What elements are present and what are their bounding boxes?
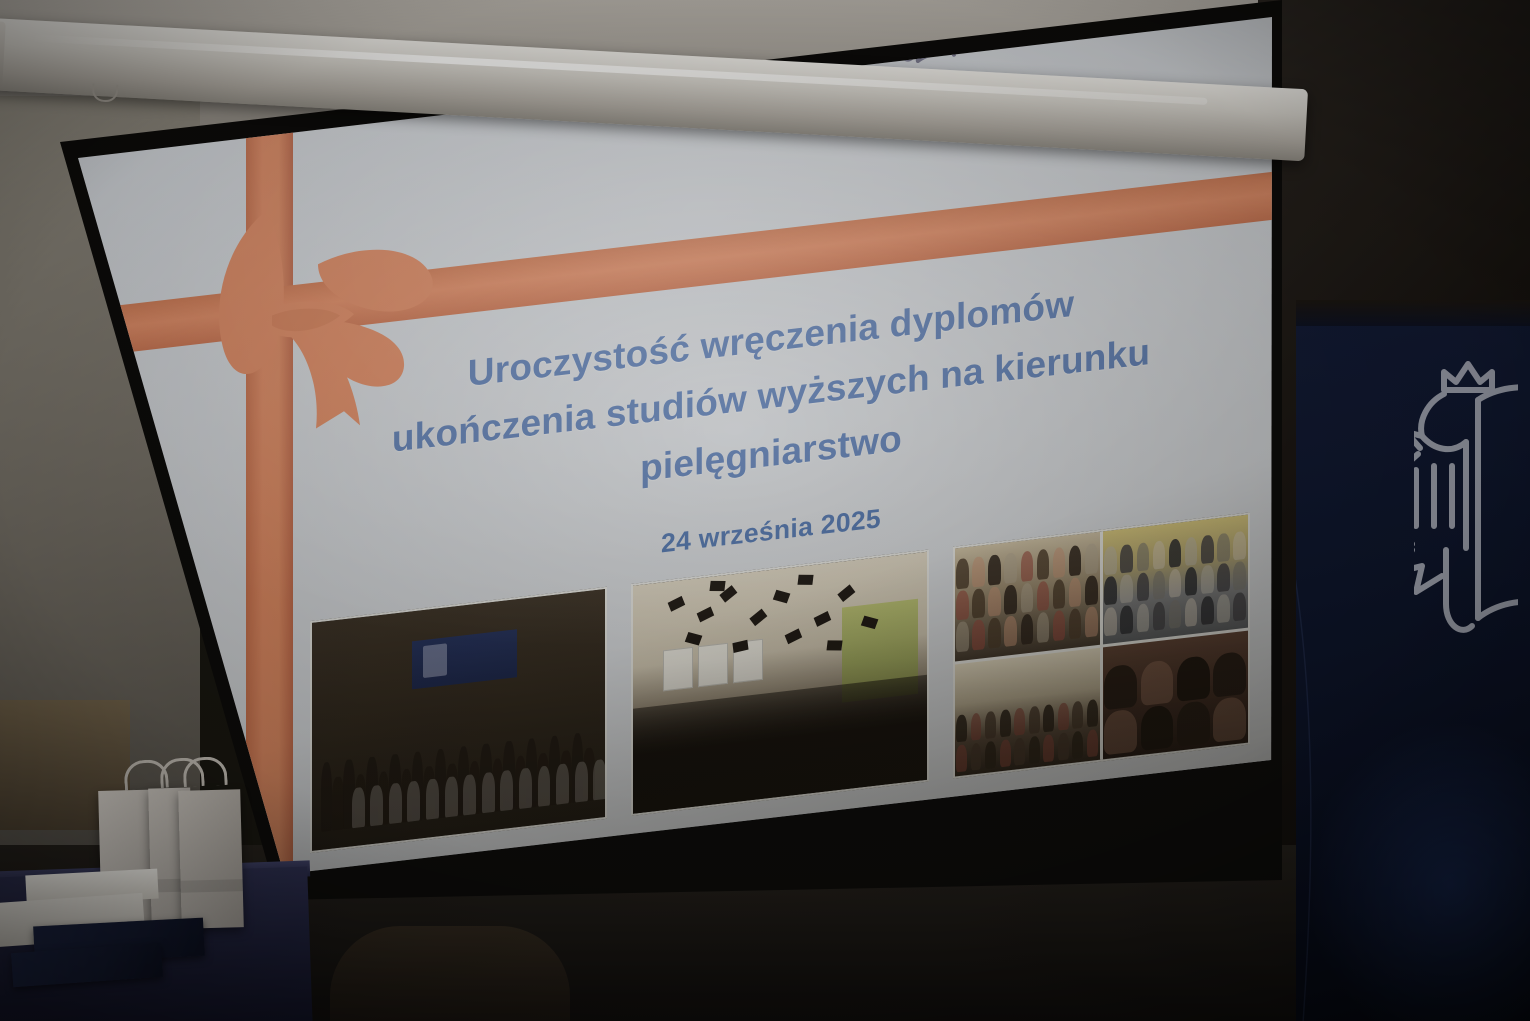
banner-eagle-and-book-emblem-icon <box>1414 342 1518 647</box>
casing-endcap <box>0 21 6 88</box>
scene-root: PAŃSTWOWA AKADEMIA NAUK STOSOWANYCH WE W… <box>0 0 1530 1021</box>
gift-bag <box>178 789 244 929</box>
foreground-chair <box>330 926 570 1021</box>
cap-toss-photo <box>631 550 928 816</box>
ceremony-collage <box>953 512 1250 778</box>
roll-up-banner <box>1296 300 1530 1021</box>
group-photo-in-hall <box>310 587 607 853</box>
